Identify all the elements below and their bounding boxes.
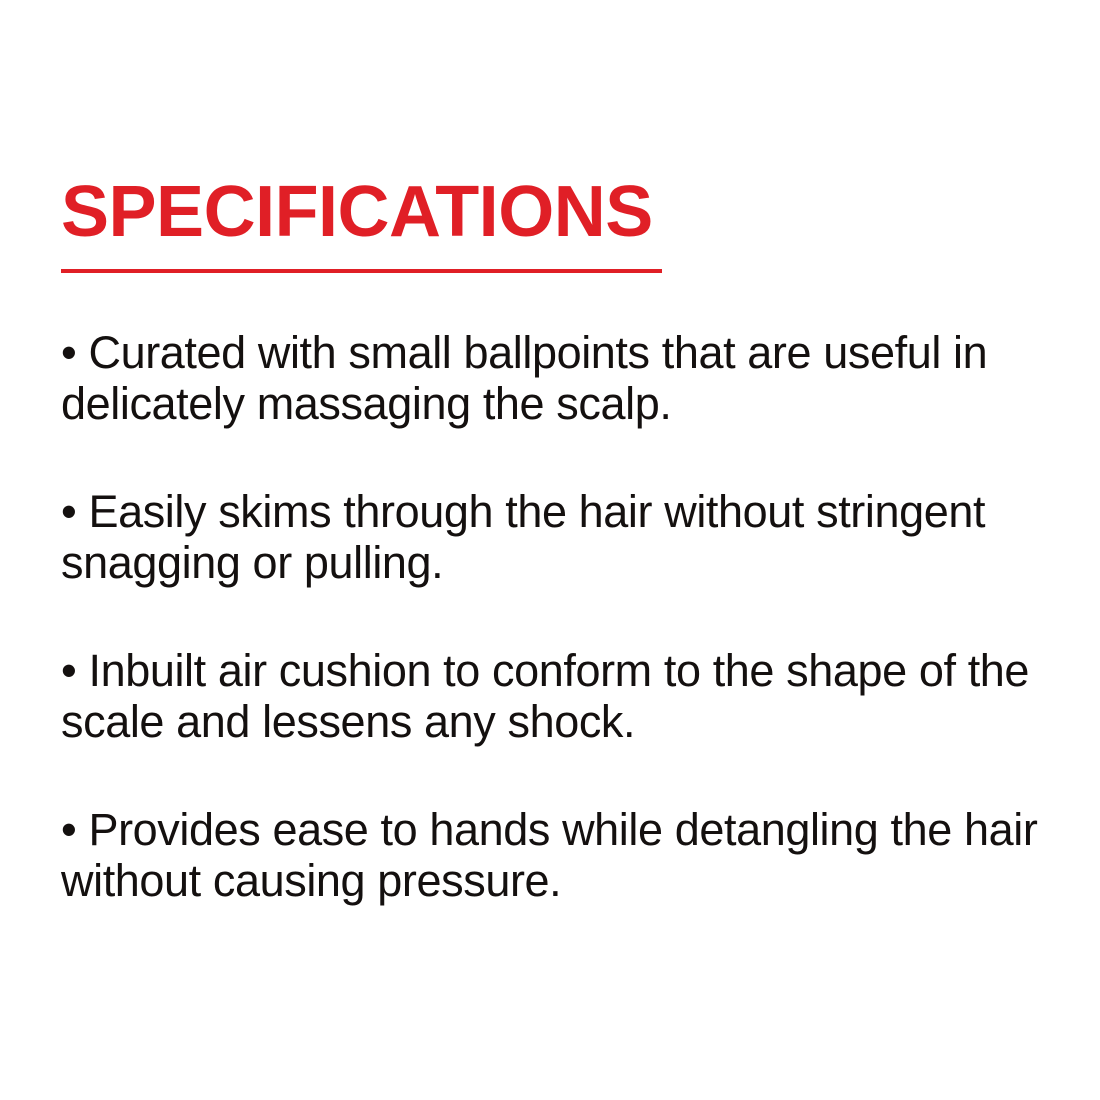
list-item: • Inbuilt air cushion to conform to the … [61,645,1046,747]
list-item-text: Provides ease to hands while detangling … [61,804,1037,906]
list-item: • Provides ease to hands while detanglin… [61,804,1046,906]
list-item: • Curated with small ballpoints that are… [61,327,1046,429]
list-item-text: Inbuilt air cushion to conform to the sh… [61,645,1029,747]
list-item-text: Curated with small ballpoints that are u… [61,327,987,429]
page-title: SPECIFICATIONS [61,176,681,248]
bullet-icon: • [61,486,76,537]
title-underline-rule [61,269,662,273]
specifications-card: SPECIFICATIONS • Curated with small ball… [0,0,1100,1100]
bullet-icon: • [61,645,76,696]
bullet-icon: • [61,804,76,855]
specifications-list: • Curated with small ballpoints that are… [61,327,1046,906]
bullet-icon: • [61,327,76,378]
list-item-text: Easily skims through the hair without st… [61,486,985,588]
heading-block: SPECIFICATIONS [61,176,681,273]
list-item: • Easily skims through the hair without … [61,486,1046,588]
